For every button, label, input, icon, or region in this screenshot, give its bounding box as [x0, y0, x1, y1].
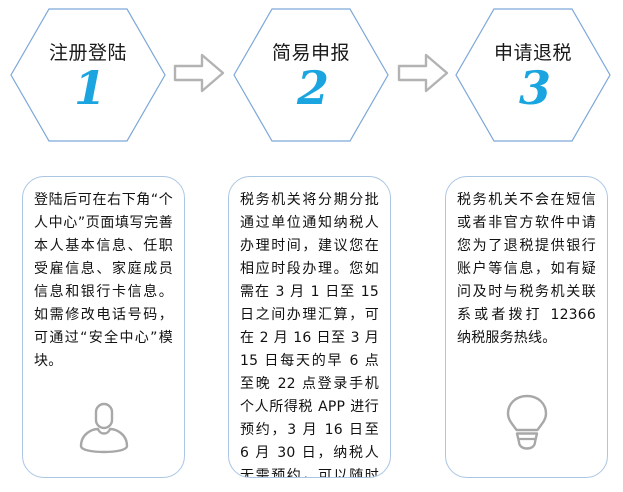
info-panel-2-text: 税务机关将分期分批通过单位通知纳税人办理时间，建议您在相应时段办理。您如需在 3…	[240, 189, 379, 478]
step-1-labels: 注册登陆 1	[10, 8, 166, 142]
info-panel-1-icon	[23, 399, 184, 455]
step-arrow-2	[396, 52, 450, 94]
step-hexagon-3[interactable]: 申请退税 3	[455, 8, 611, 142]
step-hexagon-2[interactable]: 简易申报 2	[233, 8, 389, 142]
arrow-right-icon	[172, 52, 226, 94]
step-arrow-1	[172, 52, 226, 94]
info-panel-3-text: 税务机关不会在短信或者非官方软件中请您为了退税提供银行账户等信息，如有疑问及时与…	[457, 189, 596, 350]
steps-row: 注册登陆 1 简易申报 2	[0, 0, 623, 160]
step-1-number: 1	[70, 64, 106, 112]
step-hexagon-1[interactable]: 注册登陆 1	[10, 8, 166, 142]
user-person-icon	[76, 399, 132, 455]
infographic-canvas: 注册登陆 1 简易申报 2	[0, 0, 623, 492]
info-panel-2: 税务机关将分期分批通过单位通知纳税人办理时间，建议您在相应时段办理。您如需在 3…	[228, 176, 391, 478]
step-2-labels: 简易申报 2	[233, 8, 389, 142]
arrow-right-icon	[396, 52, 450, 94]
info-panel-3: 税务机关不会在短信或者非官方软件中请您为了退税提供银行账户等信息，如有疑问及时与…	[445, 176, 608, 478]
info-panel-1: 登陆后可在右下角“个人中心”页面填写完善本人基本信息、任职受雇信息、家庭成员信息…	[22, 176, 185, 478]
info-panel-1-text: 登陆后可在右下角“个人中心”页面填写完善本人基本信息、任职受雇信息、家庭成员信息…	[34, 189, 173, 373]
info-panels-row: 登陆后可在右下角“个人中心”页面填写完善本人基本信息、任职受雇信息、家庭成员信息…	[0, 160, 623, 492]
step-3-number: 3	[515, 64, 551, 112]
step-2-number: 2	[293, 64, 329, 112]
lightbulb-icon	[502, 393, 552, 451]
step-3-labels: 申请退税 3	[455, 8, 611, 142]
info-panel-3-icon	[446, 393, 607, 451]
